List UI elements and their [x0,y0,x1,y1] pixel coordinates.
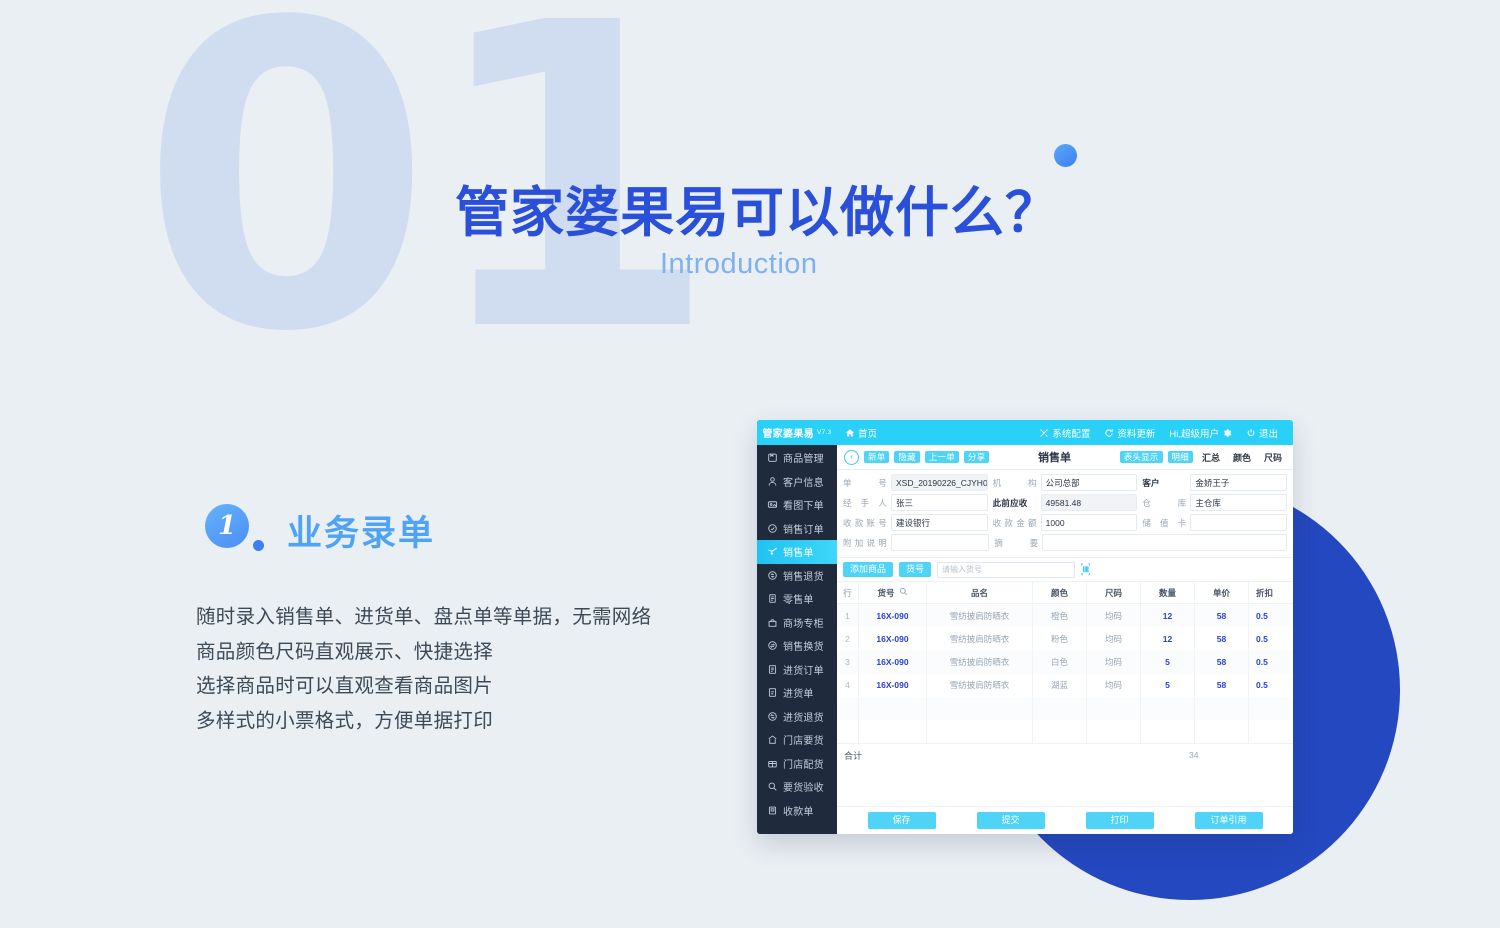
doc-form: 单号 XSD_20190226_CJYH001 机构 公司总部 客户 金娇王子 … [837,470,1293,557]
col-code-label: 货号 [877,587,894,599]
sidebar-item-store-allocate[interactable]: 门店配货 [757,752,837,776]
sidebar-item-label: 销售单 [783,544,814,559]
receipt-amount-input[interactable]: 1000 [1041,514,1138,531]
share-button[interactable]: 分享 [964,451,989,464]
field-previous-receivable: 此前应收 49581.48 [993,494,1138,511]
brand-name: 管家婆果易 [762,425,814,440]
sidebar-item-product-management[interactable]: 商品管理 [757,446,837,470]
field-extra-note: 附加说明 [843,534,989,551]
sidebar-item-label: 销售订单 [783,521,824,536]
cell-row-no: 3 [837,650,859,673]
field-label: 机构 [993,477,1037,489]
field-org: 机构 公司总部 [993,474,1138,491]
cell-size: 均码 [1087,674,1141,697]
back-button[interactable]: ‹ [844,450,859,465]
feature-line: 多样式的小票格式，方便单据打印 [196,704,716,739]
sidebar-item-inspect[interactable]: 要货验收 [757,775,837,799]
doc-toolbar: ‹ 新单 隐藏 上一单 分享 销售单 表头显示 明细 汇总 颜色 尺码 [837,445,1293,470]
topbar-update-label: 资料更新 [1117,426,1155,440]
cell-color: 湖蓝 [1033,674,1087,697]
sidebar-item-label: 客户信息 [783,474,824,489]
cell-row-no: 2 [837,627,859,650]
cell-name: 雪纺披肩防晒衣 [927,650,1033,673]
prev-bill-button[interactable]: 上一单 [925,451,959,464]
sidebar-item-label: 销售换货 [783,638,824,653]
feature-badge-dot [253,540,264,551]
submit-button[interactable]: 提交 [977,812,1045,829]
cell-discount: 0.5 [1249,627,1293,650]
receipt-account-input[interactable]: 建设银行 [891,514,988,531]
sidebar-item-customer-info[interactable]: 客户信息 [757,470,837,494]
image-order-icon [767,499,778,510]
sidebar-item-sale-exchange[interactable]: 销售换货 [757,634,837,658]
exchange-icon [767,640,778,651]
cell-color: 白色 [1033,650,1087,673]
purchase-bill-icon [767,687,778,698]
cell-color: 橙色 [1033,604,1087,627]
topbar-logout-label: 退出 [1259,426,1278,440]
page-subtitle: Introduction [660,248,818,281]
sale-bill-icon [767,546,778,557]
cell-qty: 5 [1141,674,1195,697]
size-tab[interactable]: 尺码 [1260,451,1286,464]
app-window: 管家婆果易 V7.3 商品管理 客户信息 看图下单 销 [757,420,1293,834]
summary-input[interactable] [1042,534,1287,551]
feature-description: 随时录入销售单、进货单、盘点单等单据，无需网络 商品颜色尺码直观展示、快捷选择 … [196,600,716,738]
cell-size: 均码 [1087,627,1141,650]
counter-icon [767,617,778,628]
purchase-return-icon [767,711,778,722]
stored-card-input[interactable] [1190,514,1287,531]
sidebar-item-sale-order[interactable]: 销售订单 [757,517,837,541]
topbar-logout[interactable]: 退出 [1239,426,1285,440]
previous-receivable-value: 49581.48 [1041,494,1138,511]
sidebar-menu: 商品管理 客户信息 看图下单 销售订单 销售单 [757,445,837,834]
sidebar-item-label: 销售退货 [783,568,824,583]
store-request-icon [767,734,778,745]
col-price: 单价 [1195,582,1249,603]
field-label: 此前应收 [993,497,1037,509]
order-reference-button[interactable]: 订单引用 [1195,812,1263,829]
box-icon [767,452,778,463]
home-icon [845,428,855,438]
total-qty: 34 [1189,750,1198,760]
tools-icon [1039,428,1049,438]
cell-size: 均码 [1087,604,1141,627]
field-bill-no: 单号 XSD_20190226_CJYH001 [843,474,988,491]
app-brand: 管家婆果易 V7.3 [757,420,837,445]
detail-tab[interactable]: 明细 [1168,451,1193,464]
sidebar-item-label: 要货验收 [783,779,824,794]
field-warehouse: 仓库 主仓库 [1142,494,1287,511]
table-row[interactable]: 1 16X-090 雪纺披肩防晒衣 橙色 均码 12 58 0.5 [837,604,1293,627]
customer-input[interactable]: 金娇王子 [1190,474,1287,491]
sidebar-item-purchase-return[interactable]: 进货退货 [757,705,837,729]
app-topbar: 首页 系统配置 资料更新 Hi,超级用户 退出 [837,420,1293,445]
sidebar-item-purchase-bill[interactable]: 进货单 [757,681,837,705]
form-row: 收款账号 建设银行 收款金额 1000 储值卡 [843,514,1287,531]
goods-code-input[interactable]: 请输入货号 [937,562,1075,578]
field-label: 客户 [1142,477,1186,489]
cell-code: 16X-090 [859,627,927,650]
field-receipt-amount: 收款金额 1000 [993,514,1138,531]
topbar-data-update[interactable]: 资料更新 [1097,426,1162,440]
feature-badge: 1 [205,504,249,548]
cell-price: 58 [1195,650,1249,673]
sidebar-item-label: 收款单 [783,803,814,818]
cell-name: 雪纺披肩防晒衣 [927,604,1033,627]
sidebar-item-retail-bill[interactable]: 零售单 [757,587,837,611]
col-code: 货号 [859,582,927,603]
field-label: 摘要 [994,537,1038,549]
table-body: 1 16X-090 雪纺披肩防晒衣 橙色 均码 12 58 0.5 2 16X-… [837,604,1293,743]
sidebar-item-label: 商品管理 [783,450,824,465]
app-main: 首页 系统配置 资料更新 Hi,超级用户 退出 [837,420,1293,834]
field-stored-card: 储值卡 [1142,514,1287,531]
cell-size: 均码 [1087,650,1141,673]
table-row-empty[interactable] [837,720,1293,743]
app-sidebar: 管家婆果易 V7.3 商品管理 客户信息 看图下单 销 [757,420,837,834]
total-label: 合计 [844,749,862,762]
sale-order-icon [767,523,778,534]
cell-color: 粉色 [1033,627,1087,650]
inspect-icon [767,781,778,792]
purchase-order-icon [767,664,778,675]
print-button[interactable]: 打印 [1086,812,1154,829]
decorative-blue-dot [1054,144,1077,167]
retail-icon [767,593,778,604]
field-customer: 客户 金娇王子 [1142,474,1287,491]
cell-code: 16X-090 [859,604,927,627]
feature-line: 商品颜色尺码直观展示、快捷选择 [196,635,716,670]
cell-qty: 5 [1141,650,1195,673]
sidebar-item-image-order[interactable]: 看图下单 [757,493,837,517]
sidebar-item-label: 进货单 [783,685,814,700]
cell-price: 58 [1195,627,1249,650]
table-header-row: 行 货号 品名 颜色 尺码 数量 单价 折扣 [837,581,1293,604]
feature-line: 随时录入销售单、进货单、盘点单等单据，无需网络 [196,600,716,635]
form-row: 经手人 张三 此前应收 49581.48 仓库 主仓库 [843,494,1287,511]
topbar-config-label: 系统配置 [1052,426,1090,440]
feature-title: 业务录单 [287,505,435,556]
col-color: 颜色 [1033,582,1087,603]
sidebar-item-purchase-order[interactable]: 进货订单 [757,658,837,682]
search-icon[interactable] [899,587,908,598]
save-button[interactable]: 保存 [868,812,936,829]
feature-heading: 1 业务录单 [205,504,465,560]
header-display-button[interactable]: 表头显示 [1120,451,1163,464]
cell-discount: 0.5 [1249,604,1293,627]
sidebar-item-label: 门店要货 [783,732,824,747]
col-name: 品名 [927,582,1033,603]
form-row: 单号 XSD_20190226_CJYH001 机构 公司总部 客户 金娇王子 [843,474,1287,491]
col-row-no: 行 [837,582,859,603]
field-receipt-account: 收款账号 建设银行 [843,514,988,531]
sidebar-item-label: 进货退货 [783,709,824,724]
summary-tab[interactable]: 汇总 [1198,451,1224,464]
field-label: 收款账号 [843,517,887,529]
field-label: 储值卡 [1142,517,1186,529]
cell-row-no: 4 [837,674,859,697]
extra-note-input[interactable] [891,534,989,551]
cell-code: 16X-090 [859,674,927,697]
cell-name: 雪纺披肩防晒衣 [927,627,1033,650]
table-row[interactable]: 3 16X-090 雪纺披肩防晒衣 白色 均码 5 58 0.5 [837,650,1293,673]
sidebar-item-receipt[interactable]: 收款单 [757,799,837,823]
brand-version: V7.3 [817,429,832,436]
barcode-icon[interactable] [1081,563,1103,576]
new-bill-button[interactable]: 新单 [864,451,889,464]
table-total-row: 合计 34 [837,743,1293,766]
field-label: 仓库 [1142,497,1186,509]
hide-button[interactable]: 隐藏 [894,451,919,464]
power-icon [1246,428,1256,438]
add-goods-button[interactable]: 添加商品 [843,562,893,577]
cell-row-no: 1 [837,604,859,627]
field-summary: 摘要 [994,534,1287,551]
org-input[interactable]: 公司总部 [1041,474,1138,491]
cell-name: 雪纺披肩防晒衣 [927,674,1033,697]
field-label: 收款金额 [993,517,1037,529]
sidebar-item-store-request[interactable]: 门店要货 [757,728,837,752]
table-row[interactable]: 2 16X-090 雪纺披肩防晒衣 粉色 均码 12 58 0.5 [837,627,1293,650]
field-label: 单号 [843,477,887,489]
cell-qty: 12 [1141,627,1195,650]
add-goods-bar: 添加商品 货号 请输入货号 [837,557,1293,581]
sidebar-item-label: 看图下单 [783,497,824,512]
bill-no-input[interactable]: XSD_20190226_CJYH001 [891,474,988,491]
form-row: 附加说明 摘要 [843,534,1287,551]
topbar-user[interactable]: Hi,超级用户 [1162,426,1239,440]
topbar-user-label: Hi,超级用户 [1169,426,1219,440]
cell-discount: 0.5 [1249,650,1293,673]
topbar-home-label: 首页 [858,426,877,440]
sidebar-item-sale-return[interactable]: 销售退货 [757,564,837,588]
doc-title: 销售单 [994,449,1114,465]
col-qty: 数量 [1141,582,1195,603]
user-icon [767,476,778,487]
warehouse-input[interactable]: 主仓库 [1190,494,1287,511]
feature-line: 选择商品时可以直观查看商品图片 [196,669,716,704]
gear-icon [1222,428,1232,438]
cell-qty: 12 [1141,604,1195,627]
topbar-system-config[interactable]: 系统配置 [1032,426,1097,440]
goods-code-button[interactable]: 货号 [899,562,931,577]
sidebar-item-sale-bill[interactable]: 销售单 [757,540,837,564]
col-discount: 折扣 [1249,582,1293,603]
cell-code: 16X-090 [859,650,927,673]
receipt-icon [767,805,778,816]
sidebar-item-label: 商场专柜 [783,615,824,630]
store-allocate-icon [767,758,778,769]
topbar-home[interactable]: 首页 [845,426,877,440]
color-tab[interactable]: 颜色 [1229,451,1255,464]
handler-input[interactable]: 张三 [891,494,988,511]
field-label: 经手人 [843,497,887,509]
cell-price: 58 [1195,604,1249,627]
sidebar-item-label: 门店配货 [783,756,824,771]
page-title: 管家婆果易可以做什么？ [455,168,1060,247]
table-row[interactable]: 4 16X-090 雪纺披肩防晒衣 湖蓝 均码 5 58 0.5 [837,674,1293,697]
table-row-empty[interactable] [837,697,1293,720]
goods-table: 行 货号 品名 颜色 尺码 数量 单价 折扣 1 16X-090 [837,581,1293,806]
cell-price: 58 [1195,674,1249,697]
sidebar-item-label: 进货订单 [783,662,824,677]
sale-return-icon [767,570,778,581]
field-label: 附加说明 [843,537,887,549]
doc-footer: 保存 提交 打印 订单引用 [837,806,1293,834]
sidebar-item-mall-counter[interactable]: 商场专柜 [757,611,837,635]
col-size: 尺码 [1087,582,1141,603]
cell-discount: 0.5 [1249,674,1293,697]
sidebar-item-label: 零售单 [783,591,814,606]
field-handler: 经手人 张三 [843,494,988,511]
refresh-icon [1104,428,1114,438]
